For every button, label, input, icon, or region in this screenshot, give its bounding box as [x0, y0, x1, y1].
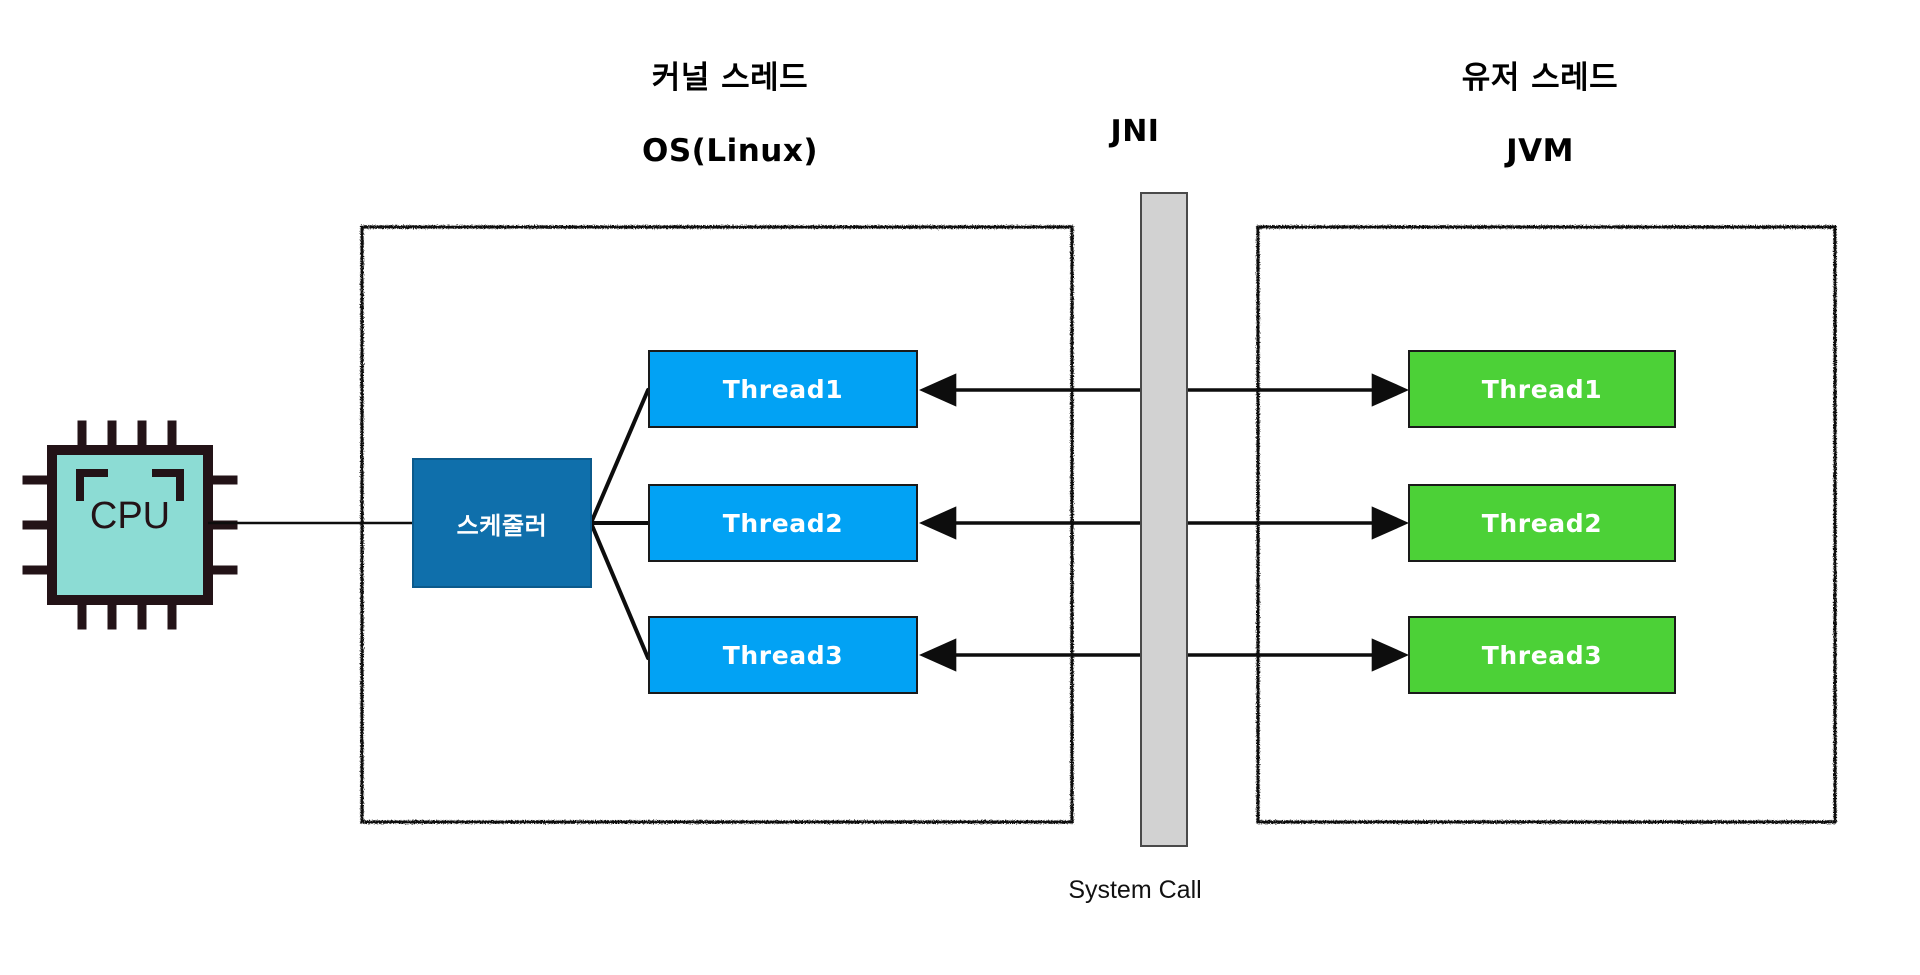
cpu-label: CPU — [55, 495, 205, 538]
os-title: OS(Linux) — [530, 133, 930, 169]
jni-title: JNI — [1055, 114, 1215, 149]
jvm-title: JVM — [1340, 133, 1740, 169]
kernel-thread-box-3[interactable]: Thread3 — [648, 616, 918, 694]
kernel-thread-box-2[interactable]: Thread2 — [648, 484, 918, 562]
kernel-thread-box-1[interactable]: Thread1 — [648, 350, 918, 428]
user-thread-label-3: Thread3 — [1482, 641, 1603, 670]
user-thread-box-2[interactable]: Thread2 — [1408, 484, 1676, 562]
kernel-thread-label-1: Thread1 — [723, 375, 844, 404]
kernel-thread-title: 커널 스레드 — [530, 52, 930, 97]
user-thread-title: 유저 스레드 — [1340, 52, 1740, 97]
scheduler-box[interactable]: 스케줄러 — [412, 458, 592, 588]
kernel-thread-label-3: Thread3 — [723, 641, 844, 670]
user-thread-label-2: Thread2 — [1482, 509, 1603, 538]
system-call-label: System Call — [1005, 876, 1265, 905]
scheduler-label: 스케줄러 — [457, 506, 548, 541]
user-thread-label-1: Thread1 — [1482, 375, 1603, 404]
user-thread-box-3[interactable]: Thread3 — [1408, 616, 1676, 694]
user-thread-box-1[interactable]: Thread1 — [1408, 350, 1676, 428]
jni-to-kernel-arrows — [924, 390, 1140, 655]
diagram-canvas: 커널 스레드 OS(Linux) JNI 유저 스레드 JVM CPU 스케줄러… — [0, 0, 1920, 975]
scheduler-fanout-lines — [591, 390, 648, 658]
jni-bar — [1140, 192, 1188, 847]
kernel-thread-label-2: Thread2 — [723, 509, 844, 538]
jni-to-user-arrows — [1188, 390, 1404, 655]
